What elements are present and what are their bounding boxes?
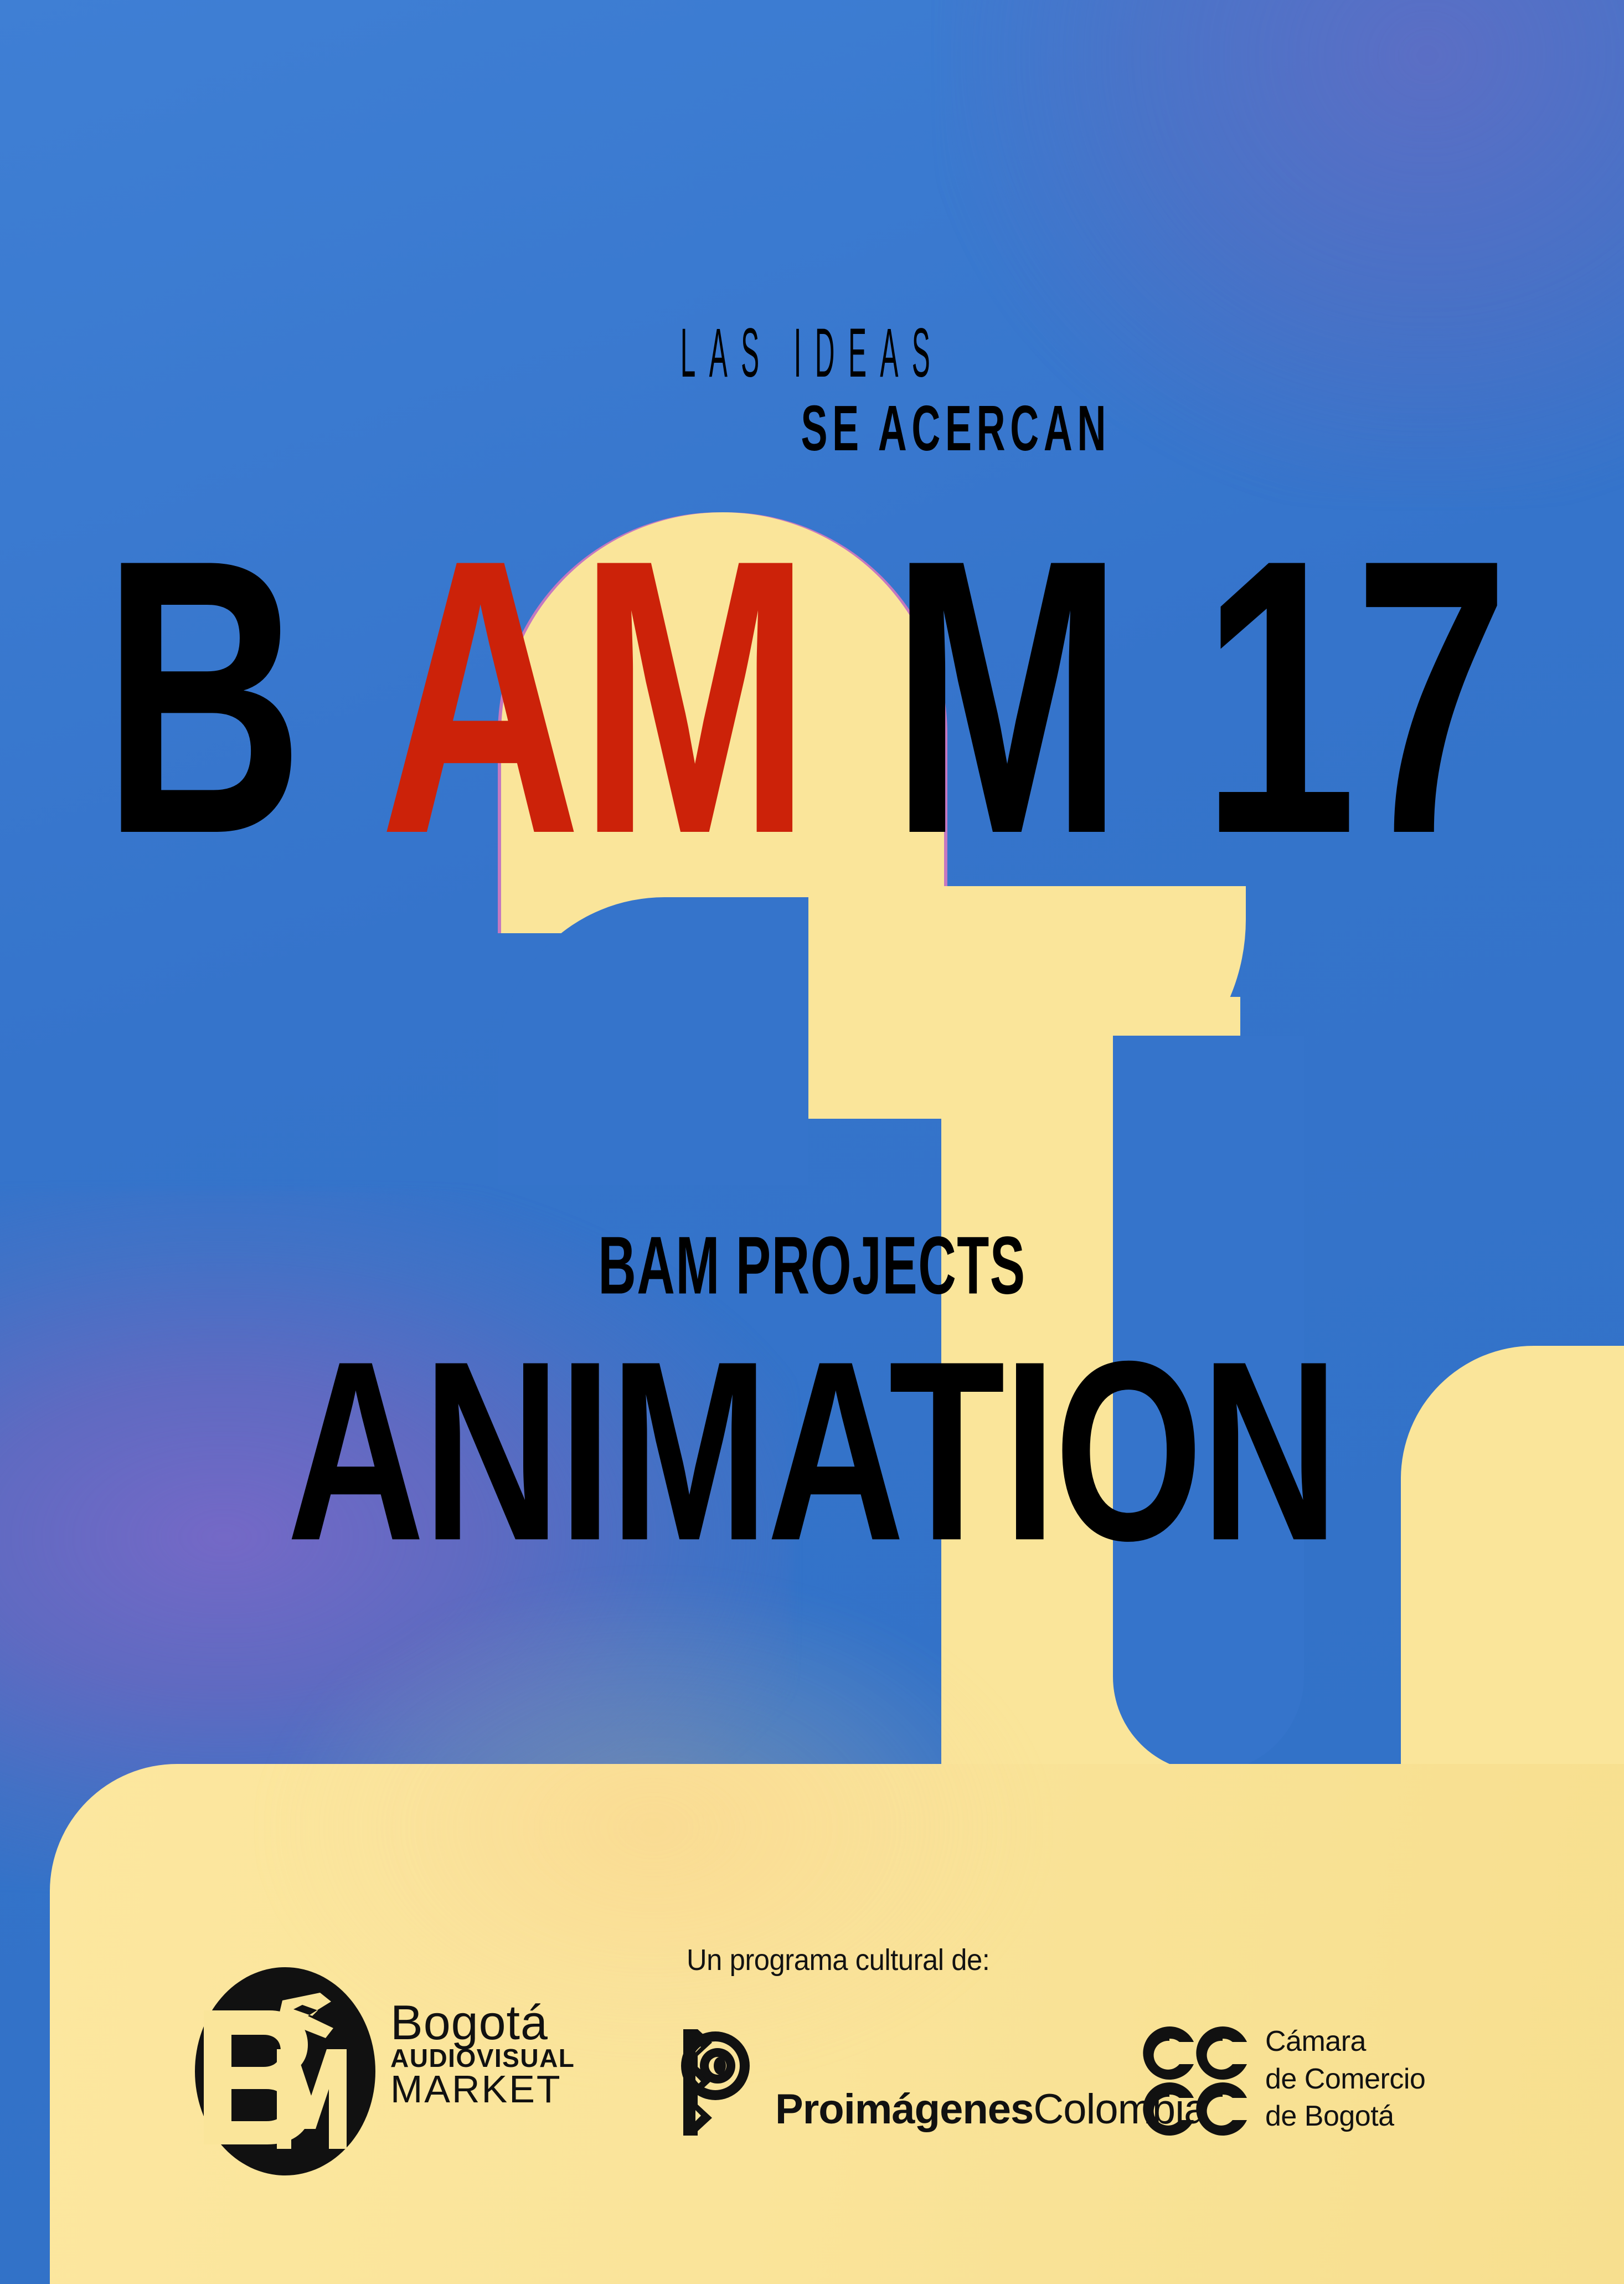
title-letter-b: B [102,501,301,892]
ccb-line2: de Comercio [1265,2061,1425,2098]
proimagenes-mark-icon [681,2027,770,2138]
kicker-las-ideas: LAS IDEAS [471,318,1153,388]
sponsor-logo-row: Bogotá AUDIOVISUAL MARKET ProimágenesCol… [0,1983,1624,2160]
ccb-wordmark: Cámara de Comercio de Bogotá [1265,2023,1425,2136]
bam-mark-icon [194,1966,377,2177]
ccb-mark-icon [1141,2024,1251,2138]
headline-wrap: ANIMATION [0,1324,1624,1556]
title-year: 17 [1189,501,1507,892]
poster-canvas: LAS IDEAS SE ACERCAN BAMM17 BAM PROJECTS… [0,0,1624,2284]
bam-wordmark: Bogotá AUDIOVISUAL MARKET [390,1999,612,2108]
proimagenes-bold: Proimágenes [775,2086,1033,2133]
bam-wordmark-line2: AUDIOVISUAL [390,2046,612,2070]
page-title: BAMM17 [0,501,1624,850]
credit-label: Un programa cultural de: [687,1943,989,1977]
logo-proimagenes-colombia: ProimágenesColombia [681,2027,1102,2154]
kicker-line-2-wrap: SE ACERCAN [0,396,1624,460]
title-letter-m: M [891,501,1121,892]
logo-camara-comercio-bogota: Cámara de Comercio de Bogotá [1141,2024,1495,2152]
logo-bam-audiovisual-market: Bogotá AUDIOVISUAL MARKET [194,1966,615,2177]
kicker-se-acercan: SE ACERCAN [801,396,1111,460]
eyebrow-bam-projects: BAM PROJECTS [598,1218,1025,1312]
ccb-line1: Cámara [1265,2023,1425,2061]
kicker-line-1-wrap: LAS IDEAS [0,318,1624,384]
headline-animation: ANIMATION [287,1324,1337,1580]
bam-wordmark-line1: Bogotá [390,1999,612,2046]
title-letters-am: AM [380,501,808,892]
bam-wordmark-line3: MARKET [390,2071,612,2108]
eyebrow-wrap: BAM PROJECTS [0,1218,1624,1302]
ccb-line3: de Bogotá [1265,2098,1425,2136]
